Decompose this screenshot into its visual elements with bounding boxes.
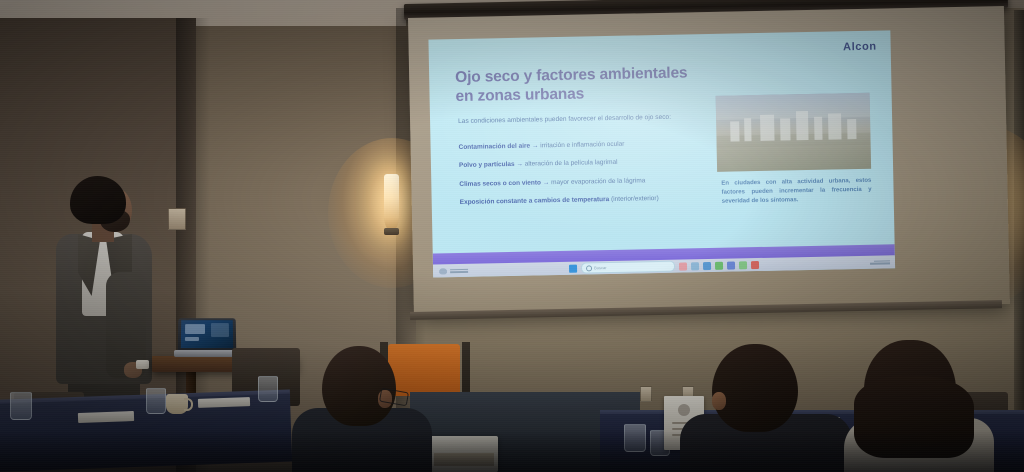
slide-intro-text: Las condiciones ambientales pueden favor… — [458, 112, 708, 127]
laptop-screen[interactable] — [181, 320, 233, 348]
bullet-arrow: → — [516, 161, 523, 168]
bullet-detail: alteración de la película lagrimal — [525, 159, 618, 168]
presentation-slide: Alcon Ojo seco y factores ambientales en… — [428, 30, 895, 277]
explorer-icon[interactable] — [703, 261, 711, 269]
start-icon[interactable] — [569, 264, 577, 272]
edge-icon[interactable] — [691, 262, 699, 270]
audience-member-3 — [840, 340, 990, 472]
bullet-term: Exposición constante a cambios de temper… — [460, 196, 610, 206]
wall-outlet-a — [640, 386, 652, 402]
audience-2-head — [712, 344, 798, 432]
teams-icon[interactable] — [727, 261, 735, 269]
water-glass[interactable] — [146, 388, 166, 414]
taskbar-clock[interactable] — [870, 260, 890, 264]
tent-card-logo — [678, 404, 690, 416]
tissue-box-band — [434, 453, 494, 466]
whatsapp-icon[interactable] — [715, 261, 723, 269]
presentation-clicker[interactable] — [136, 360, 149, 369]
slide-bullet-list: Contaminación del aire → irritación e in… — [459, 138, 712, 217]
slide-title-line1: Ojo seco y factores ambientales — [455, 64, 688, 86]
tissue-box — [430, 436, 498, 472]
photo-haze-overlay — [716, 93, 871, 172]
presenter-laptop[interactable] — [174, 318, 240, 358]
slide-bullet: Contaminación del aire → irritación e in… — [459, 138, 711, 152]
bullet-term: Contaminación del aire — [459, 143, 531, 151]
bullet-detail: irritación e inflamación ocular — [540, 141, 624, 150]
water-glass[interactable] — [10, 392, 32, 420]
water-glass[interactable] — [258, 376, 278, 402]
sconce-shade-left — [384, 174, 399, 230]
onedrive-label-lines — [450, 268, 468, 272]
water-glass[interactable] — [624, 424, 646, 452]
laptop-keyboard-base — [174, 350, 240, 357]
alcon-logo: Alcon — [843, 41, 877, 54]
slide-title-line2: en zonas urbanas — [455, 85, 584, 105]
slide-title: Ojo seco y factores ambientales en zonas… — [455, 63, 756, 107]
bullet-detail: mayor evaporación de la lágrima — [551, 177, 645, 186]
laptop-lid — [178, 318, 237, 352]
audience-2-ear — [712, 392, 726, 410]
bullet-term: Polvo y partículas — [459, 161, 515, 169]
photo-caption: En ciudades con alta actividad urbana, e… — [721, 177, 872, 207]
chrome-icon[interactable] — [739, 261, 747, 269]
projection-screen: Alcon Ojo seco y factores ambientales en… — [408, 6, 1010, 316]
bullet-detail: (interior/exterior) — [611, 195, 659, 203]
conference-room-photo: Alcon Ojo seco y factores ambientales en… — [0, 0, 1024, 472]
audience-member-1 — [296, 346, 416, 472]
wall-plate-left — [168, 208, 186, 230]
slide-bullet: Polvo y partículas → alteración de la pe… — [459, 156, 711, 170]
slide-bullet: Exposición constante a cambios de temper… — [460, 193, 712, 207]
audience-member-2 — [690, 344, 830, 472]
audience-1-head — [322, 346, 396, 426]
slide-bullet: Climas secos o con viento → mayor evapor… — [459, 175, 711, 189]
bullet-term: Climas secos o con viento — [459, 179, 541, 188]
laptop-window — [185, 337, 199, 341]
taskbar-center-group[interactable]: Buscar — [569, 259, 759, 274]
napkin — [78, 411, 134, 423]
bullet-arrow: → — [532, 142, 539, 149]
presenter-hair — [70, 176, 126, 224]
napkin — [198, 397, 250, 408]
audience-3-hair — [854, 376, 974, 458]
search-placeholder: Buscar — [594, 265, 607, 270]
laptop-window — [185, 324, 205, 334]
onedrive-icon[interactable] — [439, 268, 447, 274]
taskbar-onedrive-item[interactable] — [439, 267, 468, 274]
pdf-icon[interactable] — [751, 261, 759, 269]
search-icon — [586, 265, 592, 271]
laptop-window — [211, 323, 229, 337]
presenter — [48, 176, 158, 426]
bullet-arrow: → — [543, 179, 550, 186]
widgets-icon[interactable] — [679, 262, 687, 270]
coffee-mug[interactable] — [166, 394, 188, 414]
cityscape-photo — [716, 93, 871, 172]
search-input[interactable]: Buscar — [581, 261, 675, 274]
sconce-base-left — [384, 228, 399, 235]
